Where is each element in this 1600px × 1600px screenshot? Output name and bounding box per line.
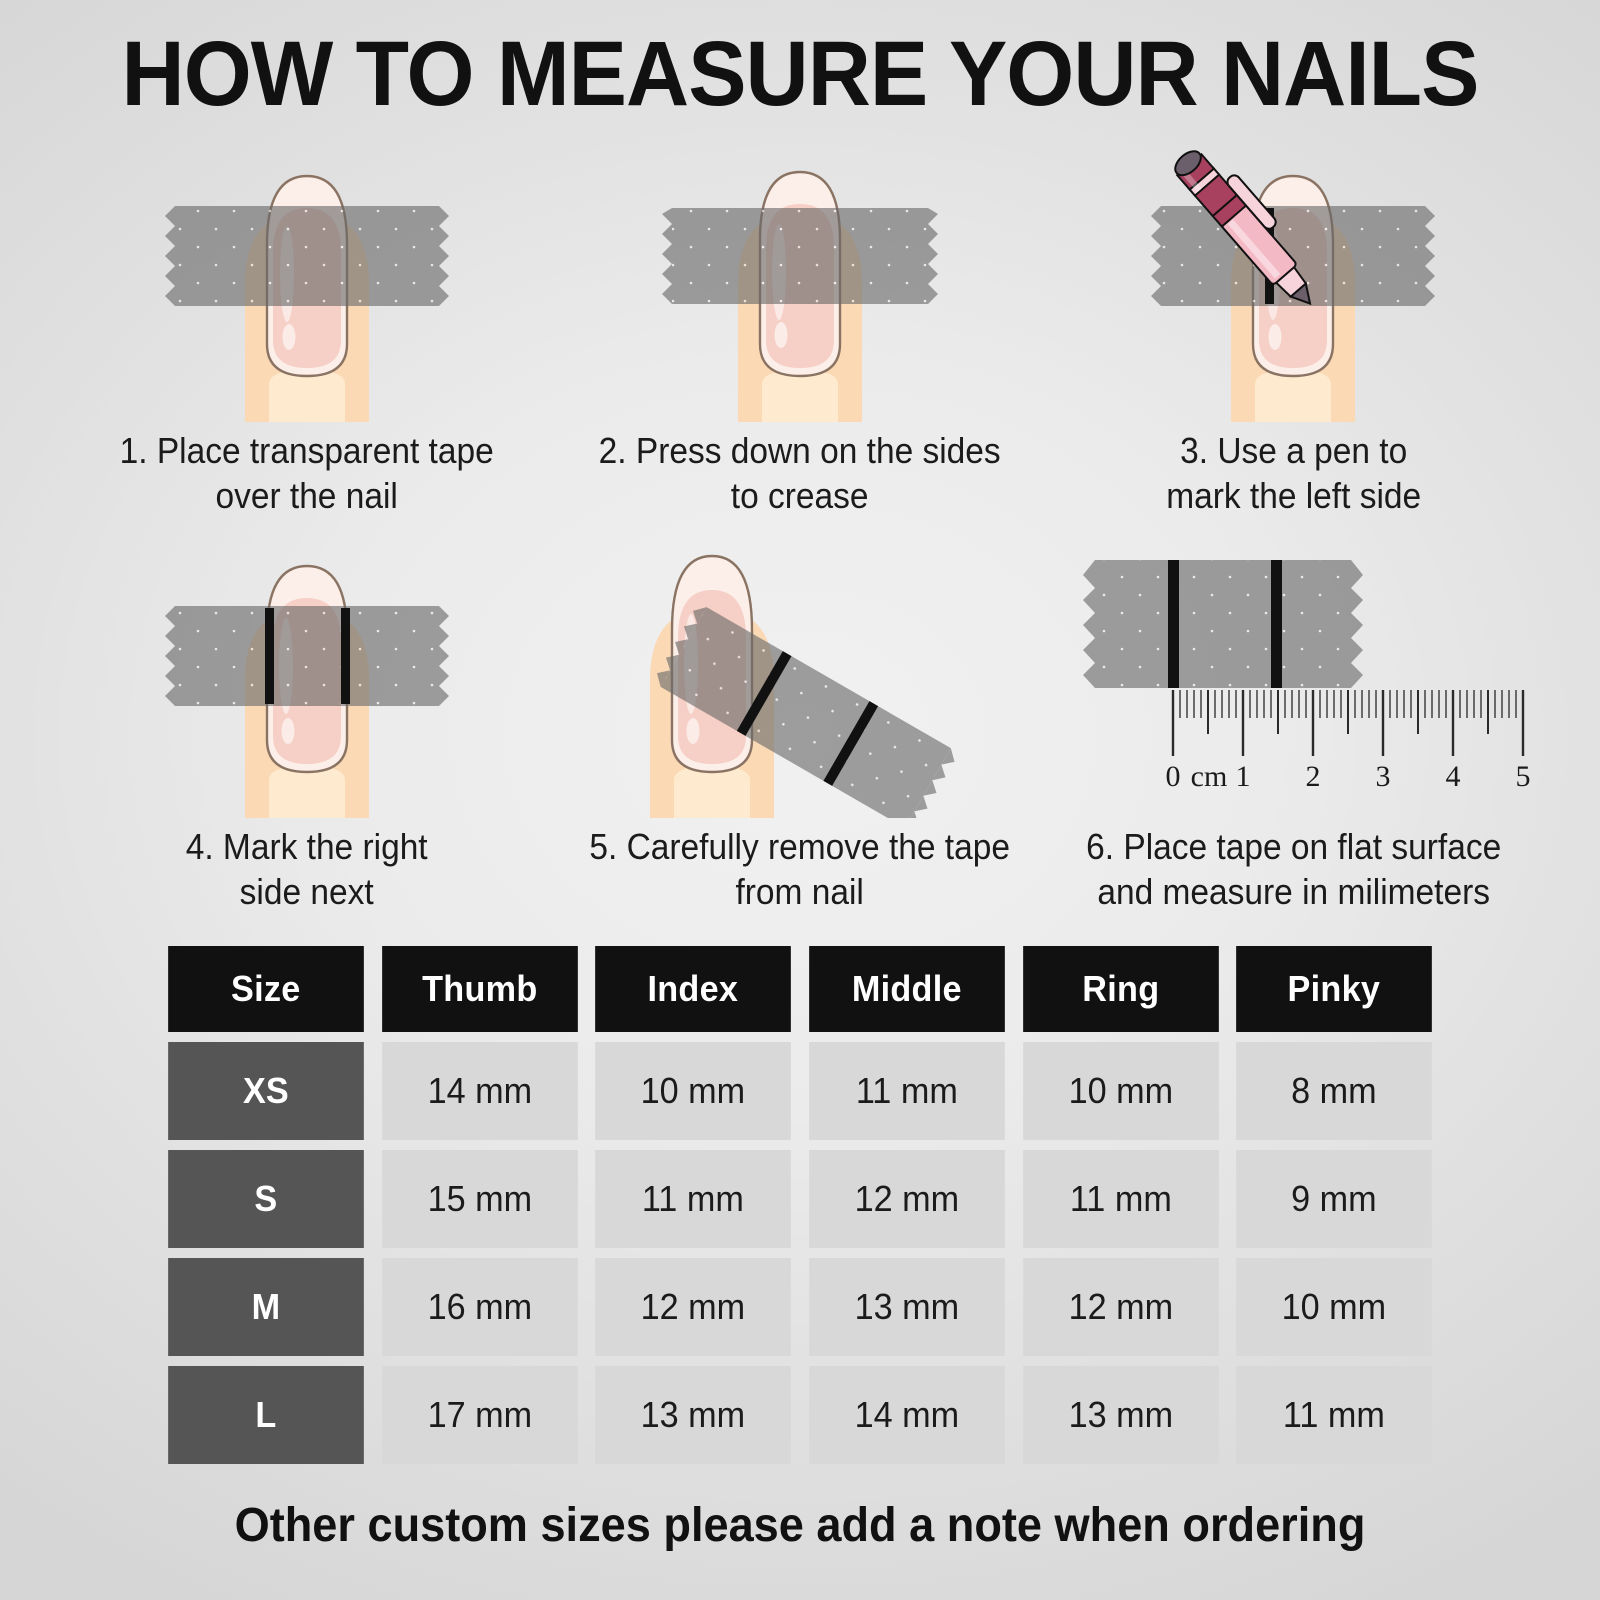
footer-note: Other custom sizes please add a note whe… <box>48 1498 1552 1553</box>
step-4: 4. Mark the right side next <box>60 518 553 914</box>
cell-m-index: 12 mm <box>595 1258 790 1356</box>
cell-xs-middle: 11 mm <box>809 1042 1004 1140</box>
step-1: 1. Place transparent tape over the nail <box>60 134 553 518</box>
finger-with-two-marks-illustration <box>157 518 457 818</box>
cell-s-index: 11 mm <box>595 1150 790 1248</box>
cell-l-middle: 14 mm <box>809 1366 1004 1464</box>
tape-on-ruler-illustration: 0 cm 1 2 3 4 5 <box>1063 518 1543 818</box>
cell-xs-pinky: 8 mm <box>1236 1042 1431 1140</box>
page-title: HOW TO MEASURE YOUR NAILS <box>40 0 1560 120</box>
table-row: XS 14 mm 10 mm 11 mm 10 mm 8 mm <box>163 1042 1437 1140</box>
ruler-labels: 0 cm 1 2 3 4 5 <box>1166 760 1531 793</box>
step-6-caption: 6. Place tape on flat surface and measur… <box>1064 824 1523 914</box>
tape-strip <box>165 606 449 706</box>
cell-xs-thumb: 14 mm <box>382 1042 577 1140</box>
column-header-thumb: Thumb <box>382 946 577 1032</box>
cell-l-index: 13 mm <box>595 1366 790 1464</box>
step-1-caption: 1. Place transparent tape over the nail <box>77 428 536 518</box>
step-4-caption: 4. Mark the right side next <box>77 824 536 914</box>
tape-strip-creased <box>662 208 938 304</box>
left-mark <box>265 608 274 704</box>
step-3-illustration <box>1047 134 1540 422</box>
cell-m-thumb: 16 mm <box>382 1258 577 1356</box>
right-mark <box>341 608 350 704</box>
size-label-xs: XS <box>168 1042 363 1140</box>
finger-with-creased-tape-illustration <box>650 134 950 422</box>
size-chart-table: Size Thumb Index Middle Ring Pinky XS 14… <box>155 936 1445 1474</box>
step-5-caption: 5. Carefully remove the tape from nail <box>571 824 1030 914</box>
step-4-illustration <box>60 518 553 818</box>
table-row: S 15 mm 11 mm 12 mm 11 mm 9 mm <box>163 1150 1437 1248</box>
cell-l-pinky: 11 mm <box>1236 1366 1431 1464</box>
finger-with-tape-illustration <box>157 134 457 422</box>
ruler-label-5: 5 <box>1516 760 1531 793</box>
column-header-middle: Middle <box>809 946 1004 1032</box>
table-header-row: Size Thumb Index Middle Ring Pinky <box>163 946 1437 1032</box>
cell-l-thumb: 17 mm <box>382 1366 577 1464</box>
cell-xs-index: 10 mm <box>595 1042 790 1140</box>
tape-strip <box>1083 560 1363 688</box>
finger-with-pen-illustration <box>1123 134 1463 422</box>
cell-m-ring: 12 mm <box>1023 1258 1218 1356</box>
step-6-illustration: 0 cm 1 2 3 4 5 <box>1047 518 1540 818</box>
cell-xs-ring: 10 mm <box>1023 1042 1218 1140</box>
step-6: 0 cm 1 2 3 4 5 6. Place tape on flat sur… <box>1047 518 1540 914</box>
step-1-illustration <box>60 134 553 422</box>
cell-m-middle: 13 mm <box>809 1258 1004 1356</box>
step-3: 3. Use a pen to mark the left side <box>1047 134 1540 518</box>
step-5: 5. Carefully remove the tape from nail <box>553 518 1046 914</box>
tape-strip <box>165 206 449 306</box>
ruler-label-4: 4 <box>1446 760 1461 793</box>
step-2: 2. Press down on the sides to crease <box>553 134 1046 518</box>
right-mark <box>1271 560 1282 688</box>
left-mark <box>1168 560 1179 688</box>
step-2-illustration <box>553 134 1046 422</box>
ruler-label-1: 1 <box>1236 760 1251 793</box>
cell-m-pinky: 10 mm <box>1236 1258 1431 1356</box>
cell-s-thumb: 15 mm <box>382 1150 577 1248</box>
finger-tape-removal-illustration <box>600 518 1000 818</box>
table-row: M 16 mm 12 mm 13 mm 12 mm 10 mm <box>163 1258 1437 1356</box>
steps-grid: 1. Place transparent tape over the nail <box>60 134 1540 914</box>
column-header-size: Size <box>168 946 363 1032</box>
ruler-label-3: 3 <box>1376 760 1391 793</box>
cell-s-ring: 11 mm <box>1023 1150 1218 1248</box>
column-header-index: Index <box>595 946 790 1032</box>
step-3-caption: 3. Use a pen to mark the left side <box>1064 428 1523 518</box>
ruler-label-2: 2 <box>1306 760 1321 793</box>
ruler-label-0: 0 <box>1166 760 1181 793</box>
ruler-unit-label: cm <box>1191 760 1228 793</box>
cell-s-pinky: 9 mm <box>1236 1150 1431 1248</box>
column-header-ring: Ring <box>1023 946 1218 1032</box>
cell-l-ring: 13 mm <box>1023 1366 1218 1464</box>
table-row: L 17 mm 13 mm 14 mm 13 mm 11 mm <box>163 1366 1437 1464</box>
step-5-illustration <box>553 518 1046 818</box>
size-label-s: S <box>168 1150 363 1248</box>
ruler-ticks <box>1173 690 1523 756</box>
cell-s-middle: 12 mm <box>809 1150 1004 1248</box>
step-2-caption: 2. Press down on the sides to crease <box>571 428 1030 518</box>
size-label-m: M <box>168 1258 363 1356</box>
size-label-l: L <box>168 1366 363 1464</box>
column-header-pinky: Pinky <box>1236 946 1431 1032</box>
